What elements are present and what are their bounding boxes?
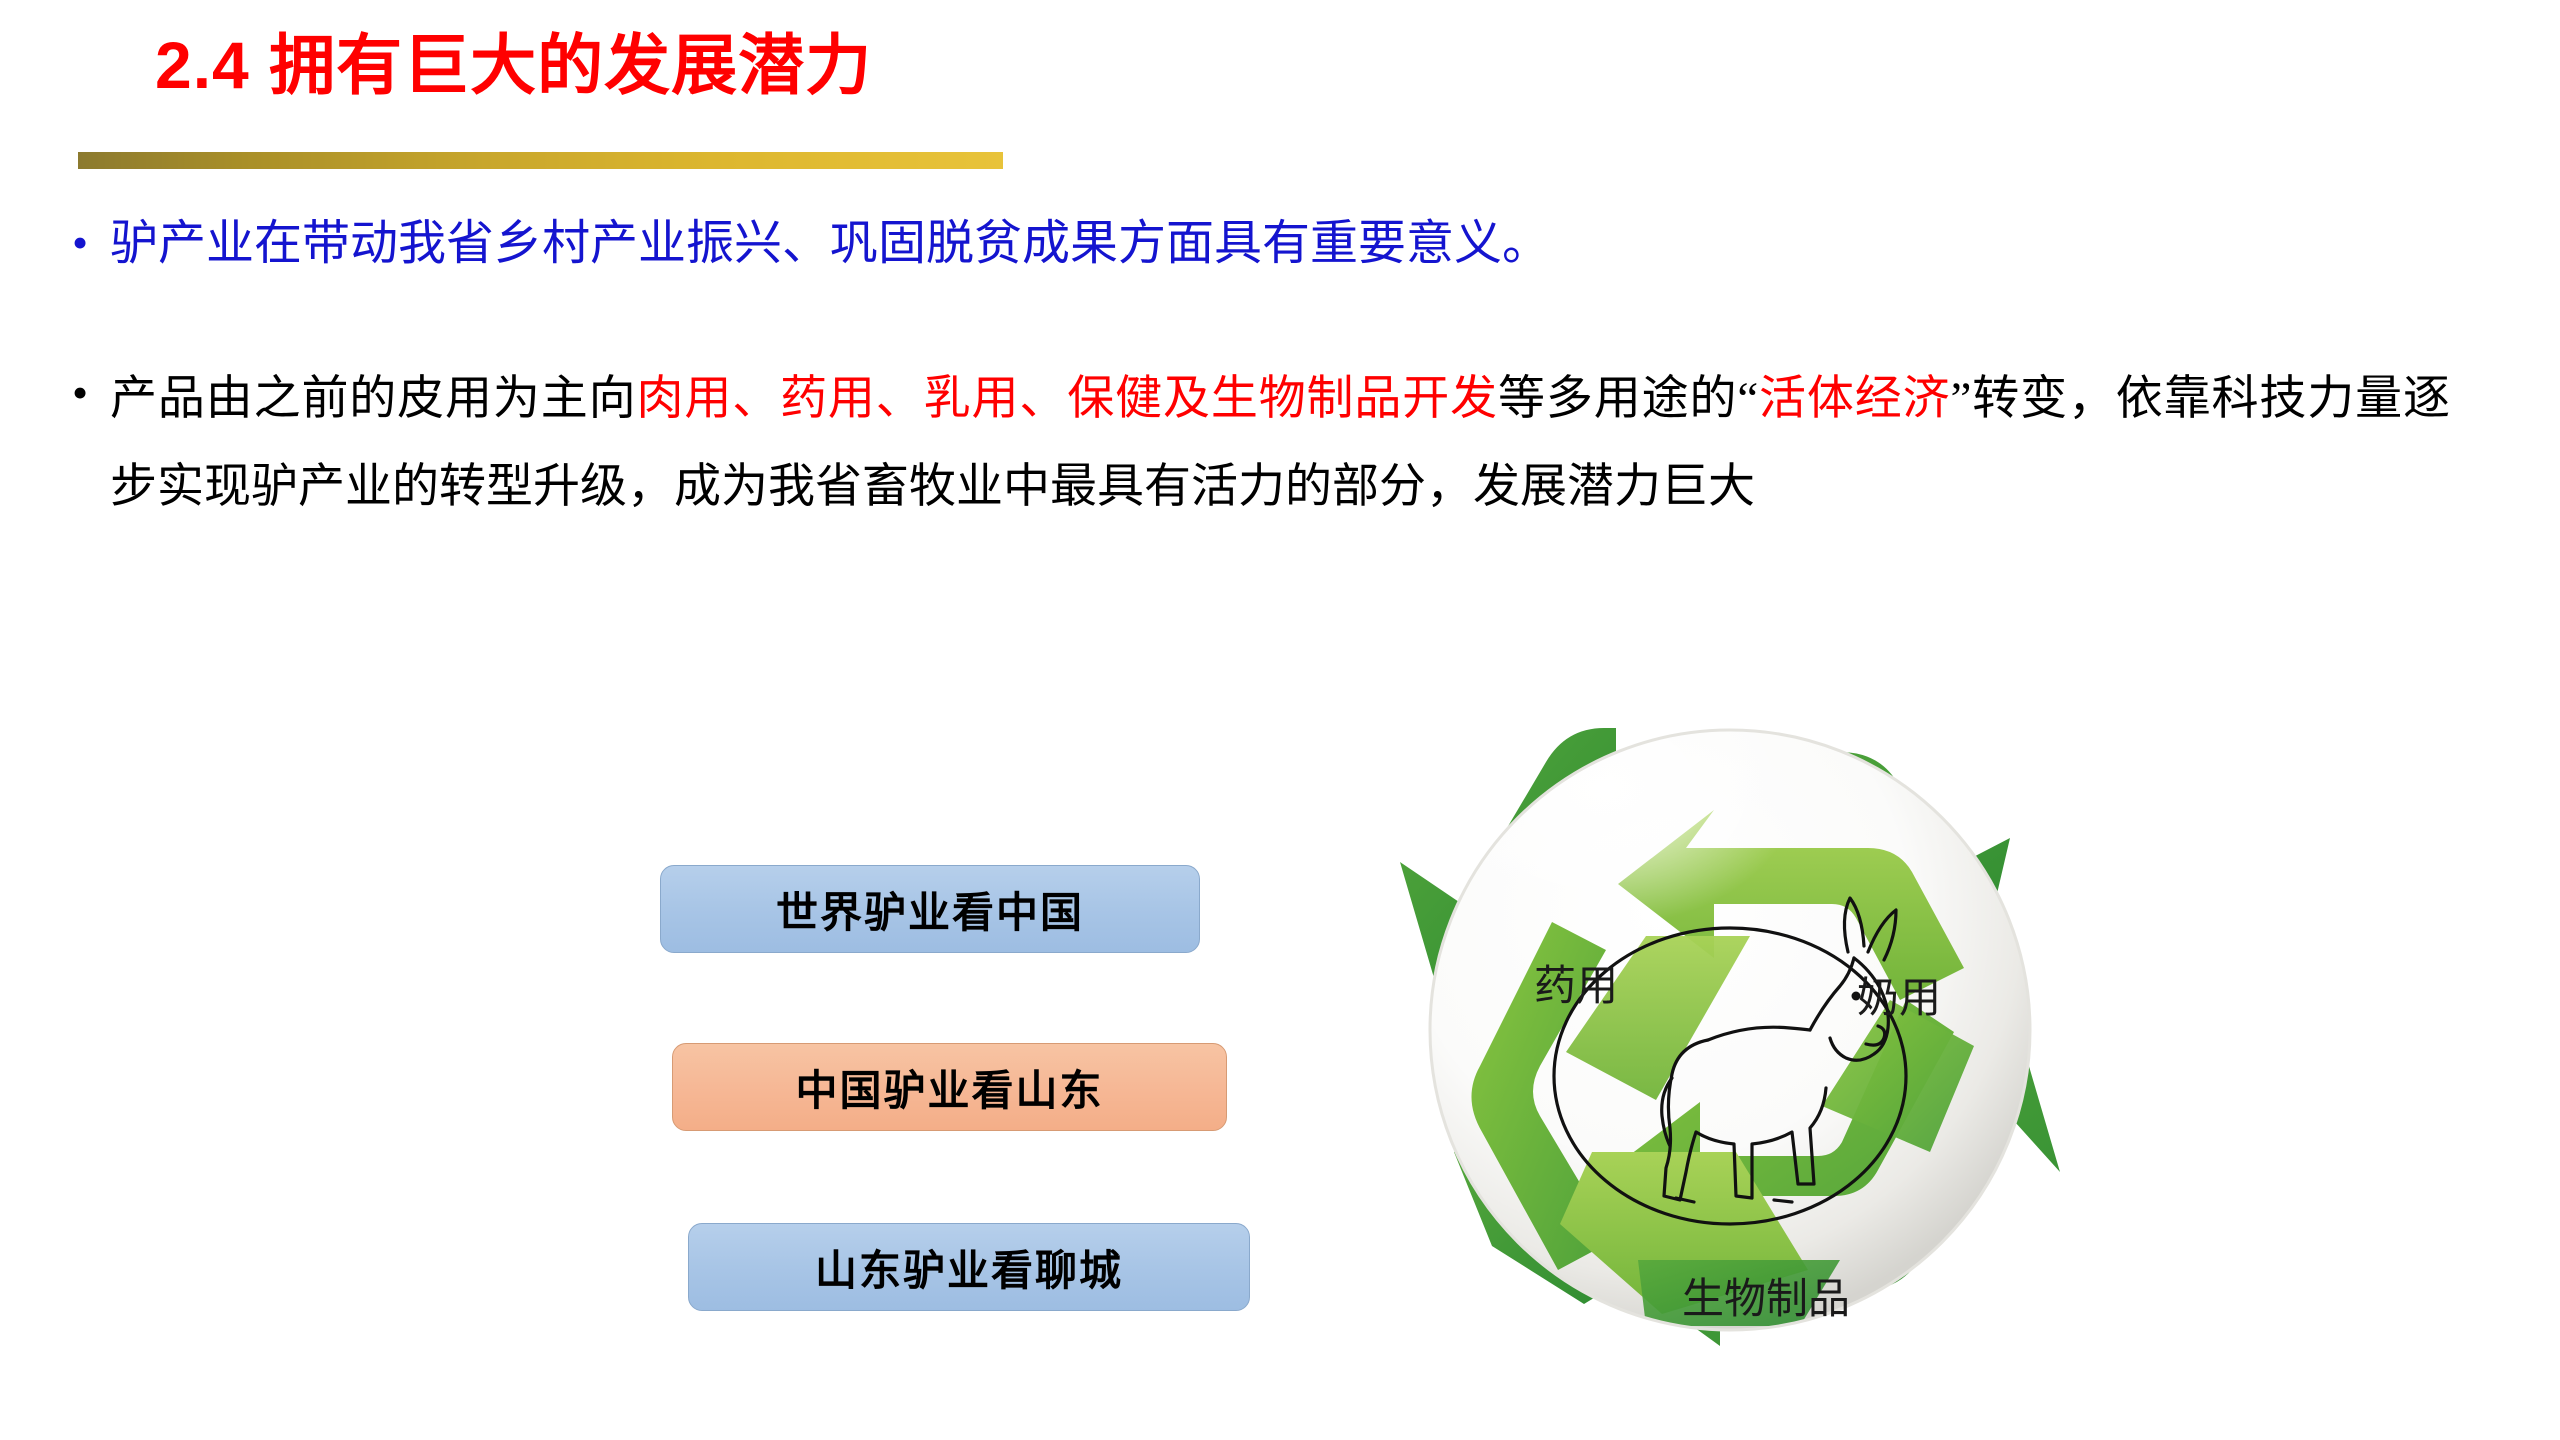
segment-uses-highlight: 肉用、药用、乳用、保健及生物制品开发	[636, 373, 1498, 425]
bullet-marker-icon: •	[72, 355, 88, 431]
callout-box-1-label: 世界驴业看中国	[776, 879, 1084, 940]
graphic-label-medicinal: 药用	[1534, 952, 1618, 1013]
callout-box-3-label: 山东驴业看聊城	[815, 1237, 1123, 1298]
bullet-2-text: 产品由之前的皮用为主向肉用、药用、乳用、保健及生物制品开发等多用途的“活体经济”…	[110, 355, 2450, 531]
callout-box-china-donkey-shandong[interactable]: 中国驴业看山东	[672, 1043, 1227, 1131]
callout-box-stack: 世界驴业看中国 中国驴业看山东 山东驴业看聊城	[0, 855, 1300, 1395]
recycle-sphere-illustration	[1370, 700, 2090, 1360]
page-title: 2.4 拥有巨大的发展潜力	[155, 28, 872, 102]
segment-mid: 等多用途的“	[1498, 373, 1758, 425]
segment-living-economy-highlight: 活体经济	[1758, 373, 1950, 425]
graphic-label-milk: 奶用	[1857, 964, 1941, 1025]
bullet-item-1: • 驴产业在带动我省乡村产业振兴、巩固脱贫成果方面具有重要意义。	[0, 205, 2560, 283]
callout-box-shandong-donkey-liaocheng[interactable]: 山东驴业看聊城	[688, 1223, 1250, 1311]
graphic-label-bioproduct: 生物制品	[1682, 1265, 1850, 1326]
title-block: 2.4 拥有巨大的发展潜力	[0, 0, 2560, 190]
callout-box-2-label: 中国驴业看山东	[795, 1057, 1103, 1118]
bullet-item-2: • 产品由之前的皮用为主向肉用、药用、乳用、保健及生物制品开发等多用途的“活体经…	[0, 355, 2560, 531]
callout-box-world-donkey-china[interactable]: 世界驴业看中国	[660, 865, 1200, 953]
title-divider-rule	[78, 152, 1003, 169]
bullet-marker-icon: •	[72, 205, 88, 281]
recycle-sphere-graphic: 药用 奶用 生物制品	[1370, 700, 2090, 1360]
segment-lead: 产品由之前的皮用为主向	[110, 373, 636, 425]
body-text-container: • 驴产业在带动我省乡村产业振兴、巩固脱贫成果方面具有重要意义。 • 产品由之前…	[0, 205, 2560, 531]
bullet-1-text: 驴产业在带动我省乡村产业振兴、巩固脱贫成果方面具有重要意义。	[110, 205, 2560, 283]
